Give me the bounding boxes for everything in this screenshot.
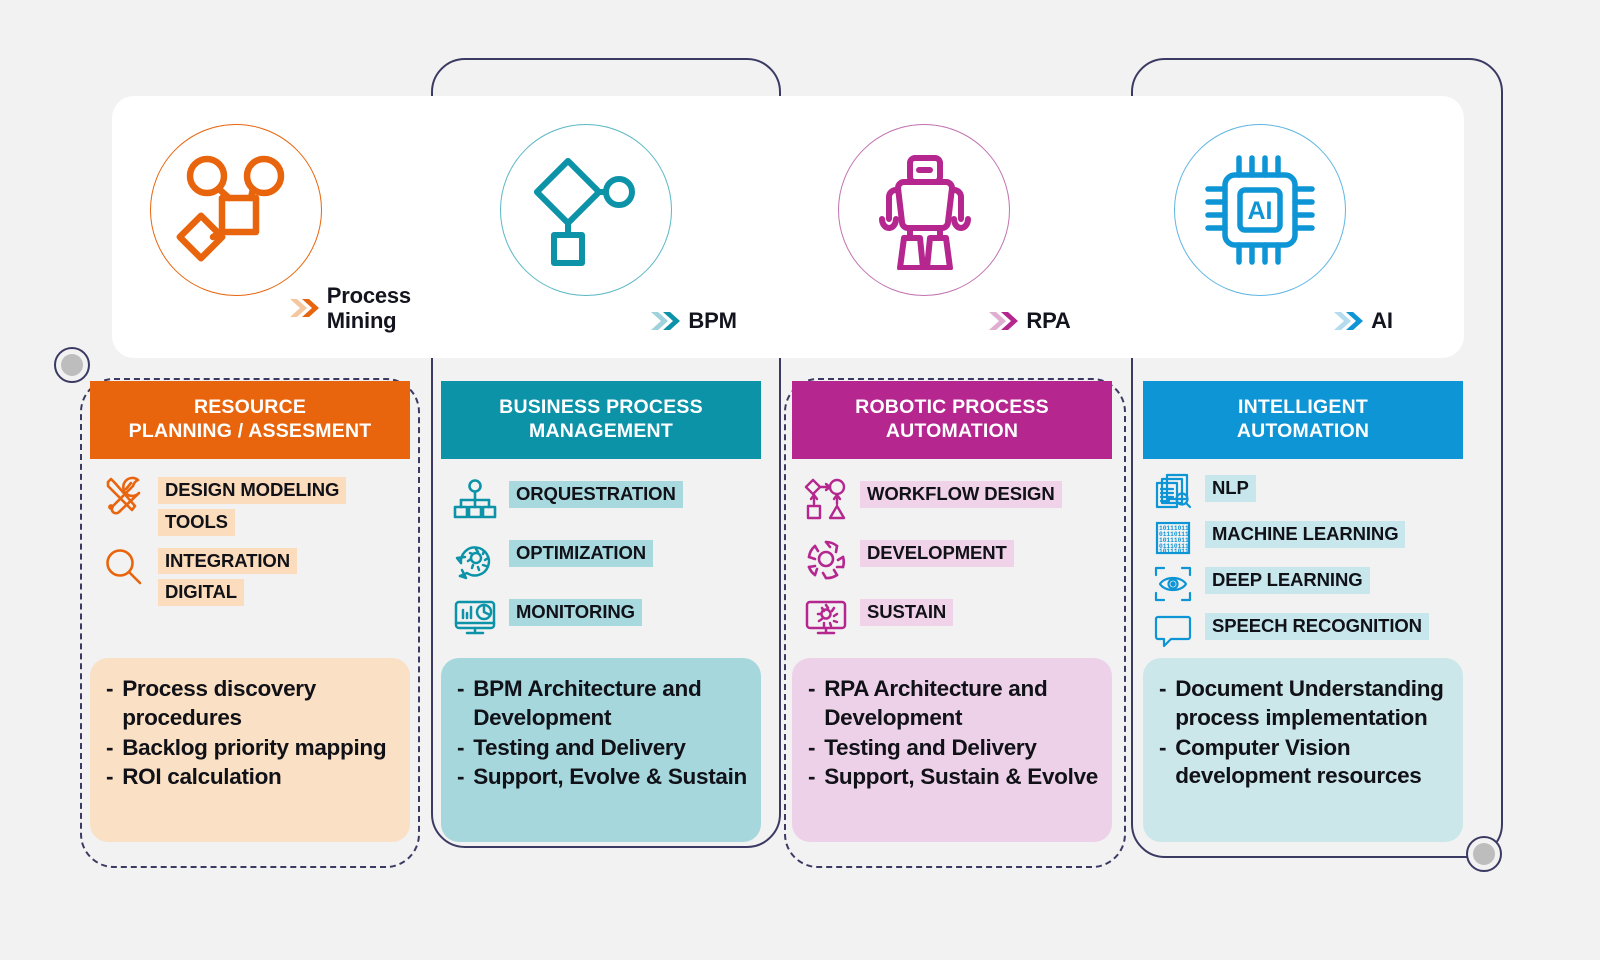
column-resource-planning-assessment: RESOURCEPLANNING / ASSESMENT [90, 381, 410, 842]
feature-tags: DEEP LEARNING [1205, 563, 1370, 594]
feature-tags: ORQUESTRATION [509, 477, 683, 508]
feature-tags: DEVELOPMENT [860, 536, 1014, 567]
bullet-box-intelligent-automation: -Document Understanding process implemen… [1143, 658, 1463, 842]
label-line-2: Mining [327, 308, 397, 333]
bullet-box-bpm: -BPM Architecture and Development -Testi… [441, 658, 761, 842]
bullet-item: -Testing and Delivery [457, 734, 747, 763]
bullet-text: Process discovery procedures [122, 675, 396, 733]
bullet-item: -ROI calculation [106, 763, 396, 792]
svg-text:AI: AI [1248, 197, 1273, 225]
bullet-text: ROI calculation [122, 763, 281, 792]
chevron-double-right-icon [987, 309, 1019, 333]
bullet-item: -RPA Architecture and Development [808, 675, 1098, 733]
ai-label-group: AI [1332, 308, 1393, 334]
bullet-dash: - [106, 734, 113, 763]
binary-code-icon: 10111011 01110111 10111011 01110111 1011… [1153, 518, 1193, 558]
bullet-dash: - [106, 763, 113, 792]
bullet-item: -BPM Architecture and Development [457, 675, 747, 733]
speech-bubble-icon [1153, 610, 1193, 650]
column-header-intelligent-automation: INTELLIGENTAUTOMATION [1143, 381, 1463, 459]
top-icon-label-text: RPA [1026, 308, 1070, 334]
rpa-circle [838, 124, 1010, 296]
feature-group: DESIGN MODELING TOOLS [102, 473, 410, 536]
bullet-text: Testing and Delivery [473, 734, 685, 763]
column-header-bpm: BUSINESS PROCESSMANAGEMENT [441, 381, 761, 459]
feature-tags: SUSTAIN [860, 595, 953, 626]
connector-dot-left [54, 347, 90, 383]
tag-design-modeling: DESIGN MODELING [158, 477, 346, 504]
top-icon-row: ProcessMining [112, 96, 1464, 358]
tag-machine-learning: MACHINE LEARNING [1205, 521, 1405, 548]
feature-list-intelligent-automation: NLP 10111011 01110111 10111011 01110111 [1143, 459, 1463, 658]
feature-group: ORQUESTRATION [453, 477, 761, 522]
bullet-dash: - [808, 734, 815, 763]
feature-group: INTEGRATION DIGITAL [102, 544, 410, 607]
bullet-item: -Computer Vision development resources [1159, 734, 1449, 792]
process-mining-circle [150, 124, 322, 296]
feature-group: SPEECH RECOGNITION [1153, 609, 1463, 650]
diagram-canvas: ProcessMining [0, 0, 1600, 960]
process-mining-label-group: ProcessMining [288, 283, 411, 334]
feature-group: OPTIMIZATION [453, 536, 761, 581]
gear-icon [804, 537, 848, 581]
spacer [441, 648, 761, 658]
top-icon-cell-rpa: RPA [788, 96, 1126, 358]
chevron-double-right-icon [1332, 309, 1364, 333]
feature-list-rpa: WORKFLOW DESIGN DE [792, 459, 1112, 648]
header-line-2: PLANNING / ASSESMENT [129, 420, 372, 442]
bpm-label-group: BPM [649, 308, 736, 334]
feature-tags: WORKFLOW DESIGN [860, 477, 1062, 508]
bullet-text: Document Understanding process implement… [1175, 675, 1449, 733]
header-line-1: INTELLIGENT [1238, 396, 1368, 418]
spacer [90, 614, 410, 658]
feature-tags: MONITORING [509, 595, 642, 626]
bullet-text: Testing and Delivery [824, 734, 1036, 763]
org-chart-icon [453, 478, 497, 522]
header-line-1: BUSINESS PROCESS [499, 396, 703, 418]
bullet-item: -Document Understanding process implemen… [1159, 675, 1449, 733]
bullet-dash: - [1159, 675, 1166, 733]
tag-tools: TOOLS [158, 509, 235, 536]
bullet-text: RPA Architecture and Development [824, 675, 1098, 733]
feature-group: DEVELOPMENT [804, 536, 1112, 581]
top-icon-cell-bpm: BPM [450, 96, 788, 358]
bullet-text: Backlog priority mapping [122, 734, 386, 763]
bullet-item: -Support, Evolve & Sustain [457, 763, 747, 792]
column-header-rpa: ROBOTIC PROCESSAUTOMATION [792, 381, 1112, 459]
bullet-dash: - [1159, 734, 1166, 792]
bullet-box-resource-planning: -Process discovery procedures -Backlog p… [90, 658, 410, 842]
document-search-icon [1153, 472, 1193, 512]
feature-tags: NLP [1205, 471, 1256, 502]
chevron-double-right-icon [288, 296, 320, 320]
bpm-circle [500, 124, 672, 296]
process-mining-icon [172, 146, 300, 274]
bullet-item: -Support, Sustain & Evolve [808, 763, 1098, 792]
top-icon-cell-ai: AI AI [1126, 96, 1464, 358]
robot-icon [864, 150, 984, 270]
feature-group: NLP [1153, 471, 1463, 512]
eye-scan-icon [1153, 564, 1193, 604]
bullet-dash: - [106, 675, 113, 733]
header-line-2: AUTOMATION [1237, 420, 1369, 442]
tag-integration: INTEGRATION [158, 548, 297, 575]
bullet-dash: - [457, 763, 464, 792]
bullet-dash: - [457, 675, 464, 733]
bullet-dash: - [808, 675, 815, 733]
connector-dot-right [1466, 836, 1502, 872]
feature-group: MONITORING [453, 595, 761, 640]
feature-tags: DESIGN MODELING TOOLS [158, 473, 346, 536]
header-line-2: MANAGEMENT [529, 420, 673, 442]
header-line-1: ROBOTIC PROCESS [855, 396, 1049, 418]
column-business-process-management: BUSINESS PROCESSMANAGEMENT [441, 381, 761, 842]
workflow-nodes-icon [804, 478, 848, 522]
gear-cycle-icon [453, 537, 497, 581]
bullet-box-rpa: -RPA Architecture and Development -Testi… [792, 658, 1112, 842]
header-line-2: AUTOMATION [886, 420, 1018, 442]
feature-group: WORKFLOW DESIGN [804, 477, 1112, 522]
flowchart-icon [526, 150, 646, 270]
feature-tags: SPEECH RECOGNITION [1205, 609, 1429, 640]
tag-development: DEVELOPMENT [860, 540, 1014, 567]
top-icon-label-text: BPM [688, 308, 736, 334]
feature-tags: INTEGRATION DIGITAL [158, 544, 297, 607]
magnifier-icon [102, 545, 146, 589]
columns-container: RESOURCEPLANNING / ASSESMENT [90, 381, 1488, 842]
rpa-label-group: RPA [987, 308, 1070, 334]
bullet-dash: - [808, 763, 815, 792]
bullet-item: -Testing and Delivery [808, 734, 1098, 763]
bullet-item: -Process discovery procedures [106, 675, 396, 733]
top-icon-label-text: ProcessMining [327, 283, 411, 334]
bullet-text: Support, Evolve & Sustain [473, 763, 747, 792]
ai-circle: AI [1174, 124, 1346, 296]
feature-list-bpm: ORQUESTRATION [441, 459, 761, 648]
feature-group: DEEP LEARNING [1153, 563, 1463, 604]
tag-optimization: OPTIMIZATION [509, 540, 653, 567]
label-line-1: Process [327, 283, 411, 308]
tag-monitoring: MONITORING [509, 599, 642, 626]
feature-group: SUSTAIN [804, 595, 1112, 640]
tag-nlp: NLP [1205, 475, 1256, 502]
column-intelligent-automation: INTELLIGENTAUTOMATION [1143, 381, 1463, 842]
spacer [792, 648, 1112, 658]
header-line-1: RESOURCE [194, 396, 306, 418]
feature-tags: OPTIMIZATION [509, 536, 653, 567]
bullet-text: BPM Architecture and Development [473, 675, 747, 733]
top-icon-label-text: AI [1371, 308, 1393, 334]
column-header-resource-planning: RESOURCEPLANNING / ASSESMENT [90, 381, 410, 459]
tools-icon [102, 474, 146, 518]
bullet-text: Computer Vision development resources [1175, 734, 1449, 792]
column-robotic-process-automation: ROBOTIC PROCESSAUTOMATION [792, 381, 1112, 842]
bullet-text: Support, Sustain & Evolve [824, 763, 1098, 792]
monitor-chart-icon [453, 596, 497, 640]
bullet-dash: - [457, 734, 464, 763]
ai-chip-icon: AI [1198, 148, 1322, 272]
top-icon-cell-process-mining: ProcessMining [112, 96, 450, 358]
tag-orquestration: ORQUESTRATION [509, 481, 683, 508]
chevron-double-right-icon [649, 309, 681, 333]
tag-deep-learning: DEEP LEARNING [1205, 567, 1370, 594]
tag-speech-recognition: SPEECH RECOGNITION [1205, 613, 1429, 640]
monitor-gear-icon [804, 596, 848, 640]
tag-workflow-design: WORKFLOW DESIGN [860, 481, 1062, 508]
feature-tags: MACHINE LEARNING [1205, 517, 1405, 548]
feature-group: 10111011 01110111 10111011 01110111 1011… [1153, 517, 1463, 558]
svg-text:10111011: 10111011 [1159, 548, 1189, 555]
feature-list-resource-planning: DESIGN MODELING TOOLS I [90, 459, 410, 614]
tag-sustain: SUSTAIN [860, 599, 953, 626]
tag-digital: DIGITAL [158, 579, 244, 606]
bullet-item: -Backlog priority mapping [106, 734, 396, 763]
